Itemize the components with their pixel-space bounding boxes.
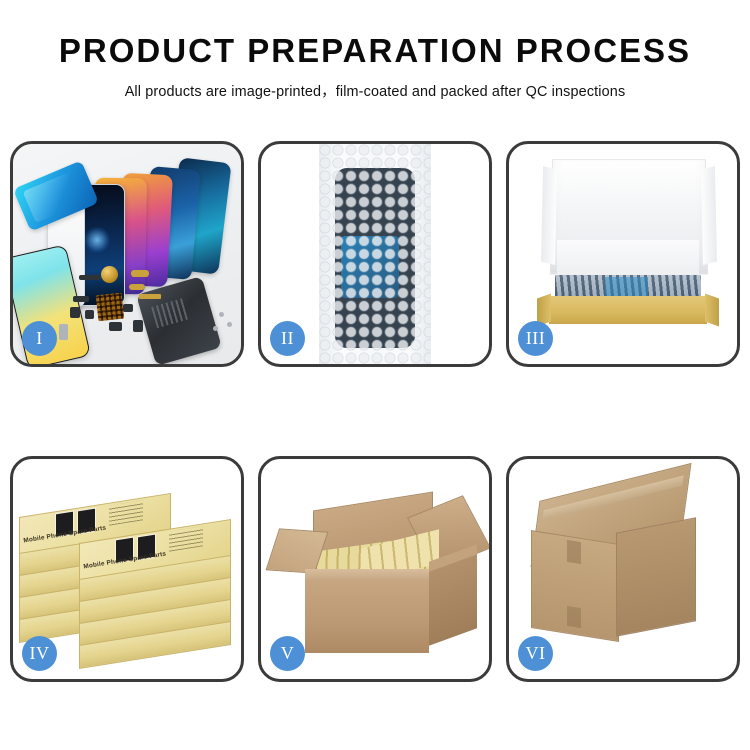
step-badge-1: I	[22, 321, 57, 356]
bubble-wrap-texture	[319, 144, 431, 364]
small-part-5	[70, 307, 80, 318]
small-part-8	[59, 324, 68, 340]
process-step-panel-6: VI	[506, 456, 740, 682]
small-part-10	[133, 320, 143, 332]
step-badge-4: IV	[22, 636, 57, 671]
process-step-panel-4: Mobile Phone Spare Parts Mobile Phone Sp…	[10, 456, 244, 682]
small-part-11	[139, 294, 161, 299]
small-part-4	[73, 296, 89, 302]
connector-chip-icon	[96, 293, 125, 322]
small-part-1	[79, 275, 101, 280]
screw-1	[219, 312, 224, 317]
small-part-3	[129, 284, 145, 290]
small-part-7	[109, 322, 122, 331]
step-badge-5: V	[270, 636, 305, 671]
mailer-box-tray	[549, 296, 707, 324]
carton-front-panel	[305, 579, 429, 653]
carton-side-panel	[429, 554, 477, 645]
screw-2	[227, 322, 232, 327]
step-badge-6: VI	[518, 636, 553, 671]
foam-liner	[557, 240, 699, 278]
process-step-panel-5: V	[258, 456, 492, 682]
sealed-carton-right-face	[616, 517, 696, 637]
process-step-panel-3: III	[506, 141, 740, 367]
carton-seam-lower	[567, 606, 581, 628]
small-part-9	[123, 304, 133, 312]
process-step-panel-2: II	[258, 141, 492, 367]
process-step-grid: I II III	[10, 141, 740, 682]
step-badge-2: II	[270, 321, 305, 356]
small-part-6	[85, 310, 94, 319]
process-step-panel-1: I	[10, 141, 244, 367]
carton-seam-upper	[567, 540, 581, 564]
page-subtitle: All products are image-printed，film-coat…	[0, 80, 750, 101]
page-title: PRODUCT PREPARATION PROCESS	[0, 34, 750, 69]
screw-3	[213, 326, 218, 331]
small-part-2	[131, 270, 149, 277]
step-badge-3: III	[518, 321, 553, 356]
bubble-wrap-bag	[319, 144, 431, 364]
page-header: PRODUCT PREPARATION PROCESS All products…	[0, 0, 750, 101]
speaker-part-icon	[101, 266, 118, 283]
